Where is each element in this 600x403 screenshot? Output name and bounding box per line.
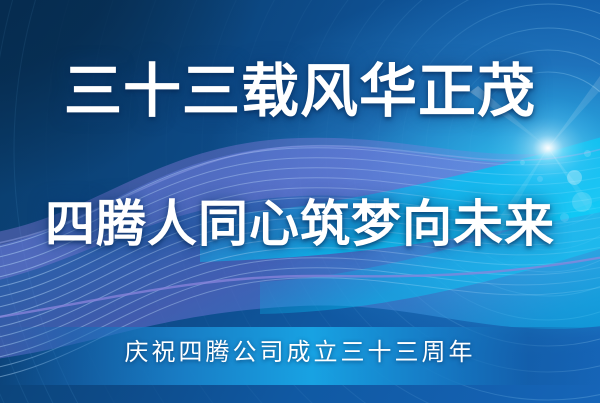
- subtitle: 庆祝四腾公司成立三十三周年: [0, 336, 600, 368]
- anniversary-banner: 三十三载风华正茂 四腾人同心筑梦向未来 庆祝四腾公司成立三十三周年: [0, 0, 600, 403]
- headline-line-2: 四腾人同心筑梦向未来: [0, 196, 600, 252]
- subtitle-text: 庆祝四腾公司成立三十三周年: [125, 338, 476, 366]
- headline-line-1: 三十三载风华正茂: [0, 60, 600, 122]
- headline-line-1-text: 三十三载风华正茂: [64, 57, 536, 125]
- headline-line-2-text: 四腾人同心筑梦向未来: [45, 195, 555, 253]
